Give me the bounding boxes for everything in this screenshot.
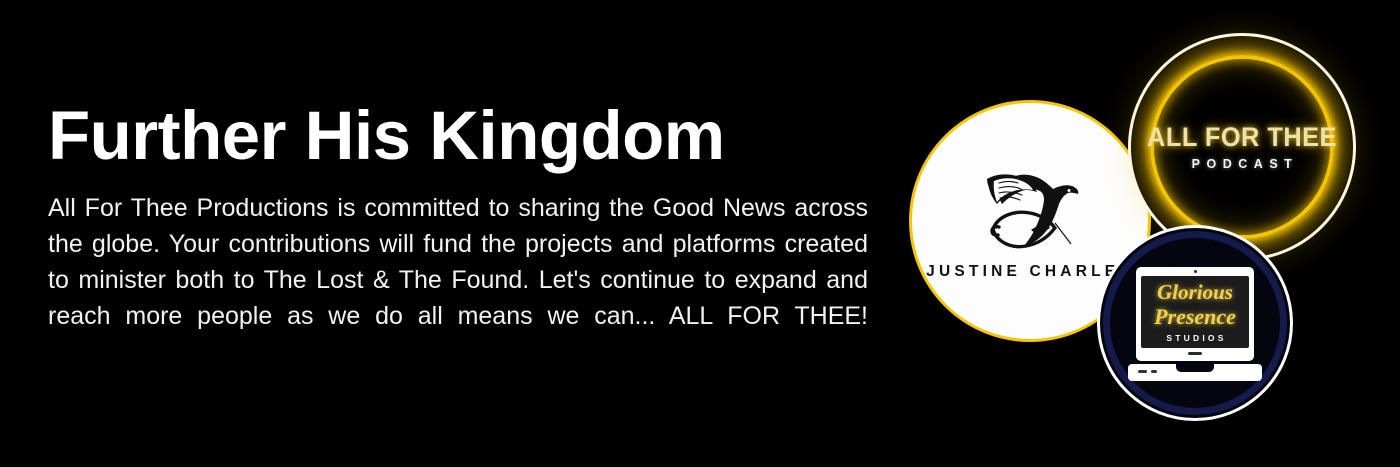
logo-all-for-thee-text: ALL FOR THEE PODCAST xyxy=(1141,122,1343,171)
logo-glorious-presence-studios[interactable]: Glorious Presence STUDIOS xyxy=(1097,225,1293,421)
laptop-camera-icon xyxy=(1194,270,1197,273)
laptop-base-dash xyxy=(1151,370,1157,373)
dove-fish-icon xyxy=(971,157,1089,257)
text-column: Further His Kingdom All For Thee Product… xyxy=(48,96,868,370)
page-title: Further His Kingdom xyxy=(48,96,868,176)
logo-glorious-subtitle: STUDIOS xyxy=(1163,333,1226,343)
logo-cluster: JUSTINE CHARLES ALL FOR THEE PODCAST Glo… xyxy=(890,0,1400,467)
laptop-base xyxy=(1128,364,1262,381)
laptop-base-notch xyxy=(1176,364,1214,372)
laptop-icon: Glorious Presence STUDIOS xyxy=(1128,267,1262,381)
logo-all-for-thee-title: ALL FOR THEE xyxy=(1147,122,1337,152)
logo-glorious-line2: Presence xyxy=(1154,306,1236,328)
laptop-base-dash xyxy=(1138,370,1147,373)
body-paragraph: All For Thee Productions is committed to… xyxy=(48,190,868,370)
laptop-lid: Glorious Presence STUDIOS xyxy=(1136,267,1254,361)
promo-banner: Further His Kingdom All For Thee Product… xyxy=(0,0,1400,467)
logo-justine-charles-label: JUSTINE CHARLES xyxy=(926,263,1134,281)
logo-all-for-thee-subtitle: PODCAST xyxy=(1141,157,1343,171)
logo-all-for-thee-podcast[interactable]: ALL FOR THEE PODCAST xyxy=(1128,33,1356,261)
laptop-trackpad-indicator xyxy=(1188,352,1202,355)
logo-glorious-line1: Glorious xyxy=(1157,282,1233,303)
laptop-screen: Glorious Presence STUDIOS xyxy=(1141,276,1249,348)
